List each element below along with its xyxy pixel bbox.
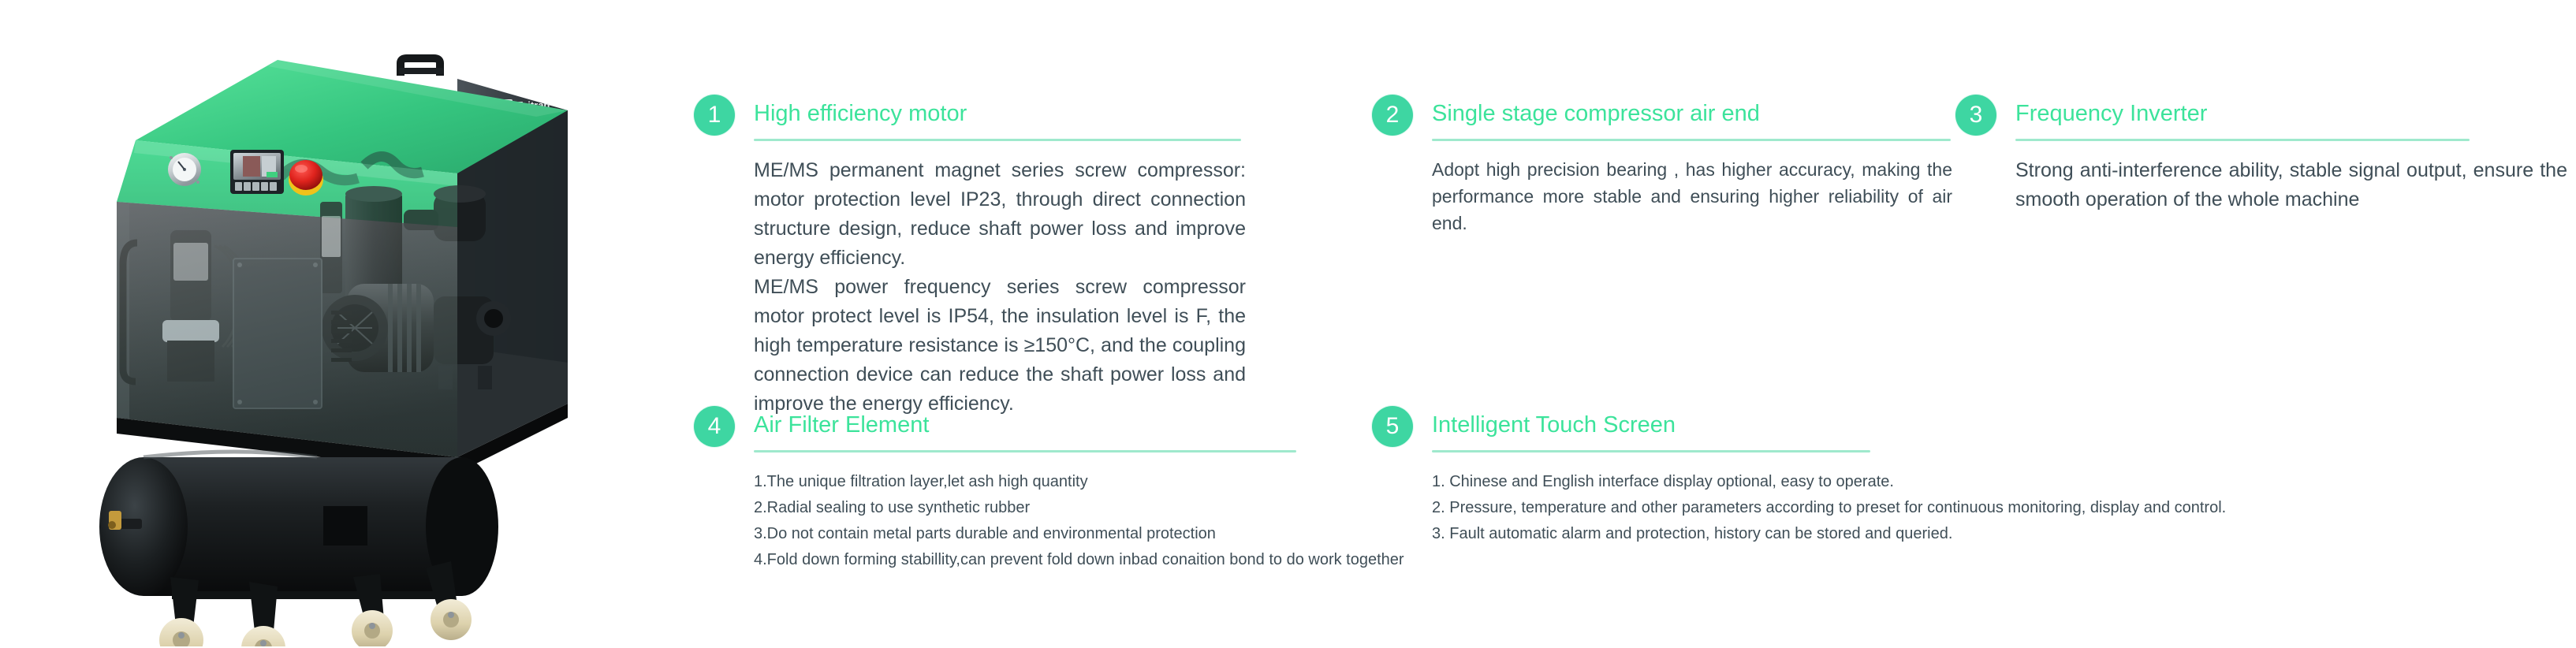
feature-title: High efficiency motor [754, 99, 967, 128]
list-item: 3.Do not contain metal parts durable and… [754, 521, 1385, 547]
feature-paragraph: ME/MS power frequency series screw compr… [754, 273, 1246, 419]
feature-divider [754, 450, 1296, 452]
air-receiver-tank [99, 452, 498, 646]
feature-body: Adopt high precision bearing , has highe… [1432, 156, 1952, 236]
list-item: 1.The unique filtration layer,let ash hi… [754, 469, 1385, 495]
feature-paragraph: ME/MS permanent magnet series screw comp… [754, 156, 1246, 273]
list-item: 2.Radial sealing to use synthetic rubber [754, 495, 1385, 521]
feature-body: ME/MS permanent magnet series screw comp… [754, 156, 1246, 419]
feature-body: Strong anti-interference ability, stable… [2015, 156, 2567, 214]
feature-block-3: 3 Frequency Inverter Strong anti-interfe… [1955, 95, 2576, 140]
feature-number-badge: 4 [694, 406, 735, 447]
list-item: 3. Fault automatic alarm and protection,… [1432, 521, 2299, 547]
list-item: 1. Chinese and English interface display… [1432, 469, 2299, 495]
touch-screen-hmi [230, 150, 284, 194]
feature-block-5: 5 Intelligent Touch Screen 1. Chinese an… [1372, 406, 2160, 452]
feature-header: 3 Frequency Inverter [1955, 95, 2576, 140]
feature-paragraph: Strong anti-interference ability, stable… [2015, 156, 2567, 214]
product-image: Taitran [95, 47, 599, 646]
emergency-stop-button [289, 160, 323, 196]
feature-header: 4 Air Filter Element [694, 406, 1325, 452]
feature-title: Air Filter Element [754, 411, 929, 439]
feature-divider [2015, 139, 2470, 141]
feature-block-2: 2 Single stage compressor air end Adopt … [1372, 95, 1955, 140]
lift-handle [399, 58, 443, 76]
feature-title: Intelligent Touch Screen [1432, 411, 1676, 439]
feature-block-4: 4 Air Filter Element 1.The unique filtra… [694, 406, 1325, 452]
feature-paragraph: Adopt high precision bearing , has highe… [1432, 156, 1952, 236]
feature-divider [754, 139, 1241, 141]
feature-title: Single stage compressor air end [1432, 99, 1760, 128]
feature-number-badge: 5 [1372, 406, 1413, 447]
feature-list: 1.The unique filtration layer,let ash hi… [754, 469, 1385, 573]
feature-divider [1432, 450, 1870, 452]
tank-nameplate [323, 506, 367, 546]
list-item: 4.Fold down forming stabillity,can preve… [754, 547, 1385, 573]
pressure-gauge [168, 153, 201, 186]
feature-divider [1432, 139, 1951, 141]
list-item: 2. Pressure, temperature and other param… [1432, 495, 2299, 521]
feature-title: Frequency Inverter [2015, 99, 2207, 128]
feature-block-1: 1 High efficiency motor ME/MS permanent … [694, 95, 1246, 140]
casters [159, 599, 472, 646]
feature-number-badge: 2 [1372, 95, 1413, 136]
ghost-panel [117, 202, 457, 457]
feature-number-badge: 3 [1955, 95, 1996, 136]
feature-list: 1. Chinese and English interface display… [1432, 469, 2299, 547]
feature-header: 2 Single stage compressor air end [1372, 95, 1955, 140]
feature-header: 1 High efficiency motor [694, 95, 1246, 140]
feature-number-badge: 1 [694, 95, 735, 136]
feature-header: 5 Intelligent Touch Screen [1372, 406, 2160, 452]
